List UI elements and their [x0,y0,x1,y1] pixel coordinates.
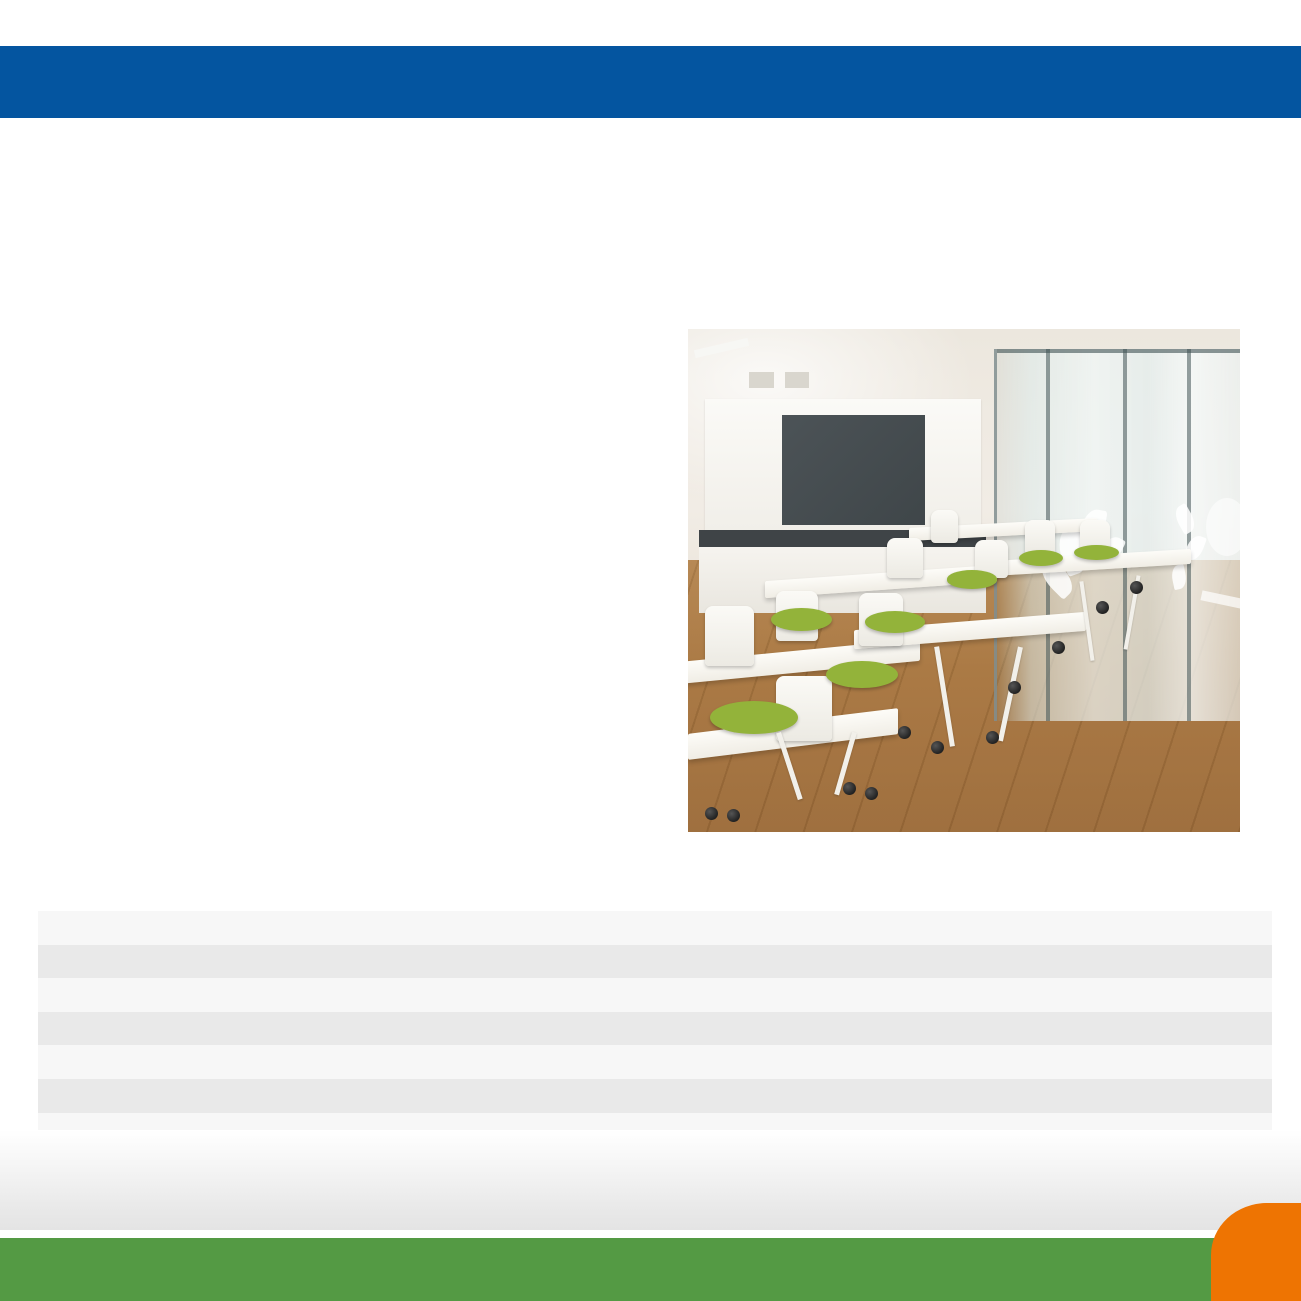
table-cell [655,1045,964,1079]
table-cell [964,945,1273,979]
table-cell [38,911,347,945]
page-root [0,0,1301,1301]
bottom-fade-gradient [0,1130,1301,1230]
photo-frosted-decal [1170,564,1189,590]
photo-frame-top [997,349,1240,353]
table-cell [347,1012,656,1046]
table-cell [964,1079,1273,1113]
table-cell [38,1045,347,1079]
table-cell [655,911,964,945]
table-row[interactable] [38,978,1272,1012]
table-cell [347,945,656,979]
photo-frosted-decal [1171,503,1199,535]
photo-caster [705,807,718,820]
table-cell [38,945,347,979]
table-row[interactable] [38,1045,1272,1079]
photo-frosted-decal [1206,498,1240,556]
photo-frosted-arrow [1201,590,1240,609]
table-cell [964,911,1273,945]
table-cell [38,1012,347,1046]
table-cell [964,1012,1273,1046]
table-cell [347,911,656,945]
table-body [38,911,1272,1146]
table-cell [347,1045,656,1079]
body-text-column [38,193,638,207]
photo-chair-back [931,510,959,543]
table-cell [38,978,347,1012]
table-row[interactable] [38,1079,1272,1113]
table-row[interactable] [38,1012,1272,1046]
table-cell [347,978,656,1012]
table-cell [964,1045,1273,1079]
header-band [0,46,1301,118]
photo-chair-back [887,538,923,578]
photo-caster [843,782,856,795]
table-row[interactable] [38,945,1272,979]
photo-chair-seat [826,661,898,688]
photo-chair-back [705,606,755,666]
photo-vent [785,372,810,388]
table-cell [38,1079,347,1113]
photo-mullion [1187,349,1191,721]
photo-mullion [1123,349,1127,721]
data-table [38,911,1272,1146]
table-cell [655,978,964,1012]
photo-caster [727,809,740,822]
table-cell [655,1079,964,1113]
table-cell [655,945,964,979]
photo-chair-seat [771,608,832,631]
table-row[interactable] [38,911,1272,945]
table-cell [655,1012,964,1046]
footer-band [0,1238,1301,1301]
photo-chair-seat [865,611,926,633]
table-cell [964,978,1273,1012]
photo-caster [1130,581,1143,594]
photo-vent [749,372,774,388]
table-cell [347,1079,656,1113]
classroom-interior-photo [688,329,1240,832]
photo-chalkboard [782,415,926,526]
photo-caster [865,787,878,800]
photo-chair-seat [947,570,997,588]
